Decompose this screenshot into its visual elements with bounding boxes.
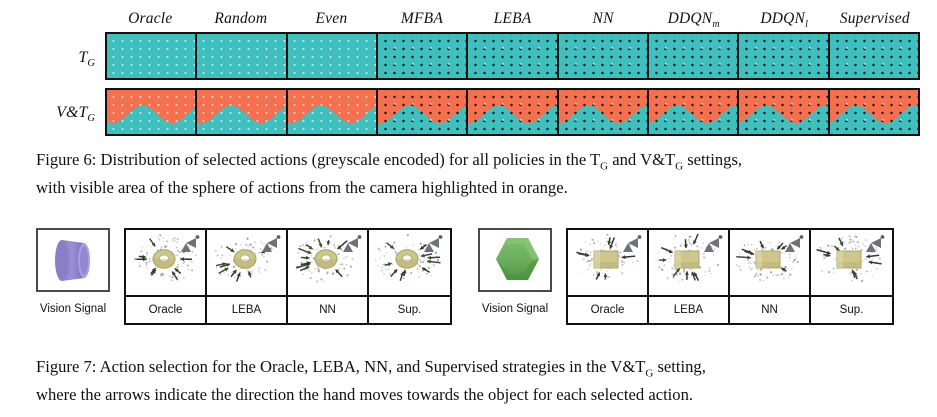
action-distribution-cell: [468, 90, 558, 134]
action-distribution-cell: [559, 34, 649, 78]
action-dot-pattern: [649, 34, 737, 78]
vision-signal-block: Vision Signal: [478, 228, 558, 315]
action-distribution-cell: [739, 34, 829, 78]
action-panel-label: NN: [730, 295, 811, 323]
action-dot-pattern-highlight: [830, 34, 918, 78]
action-distribution-cell: [468, 34, 558, 78]
action-dot-pattern-highlight: [378, 34, 466, 78]
column-header-supervised: Supervised: [830, 8, 921, 30]
row-label-tg: TG: [79, 49, 96, 69]
column-header-mfba: MFBA: [377, 8, 468, 30]
action-dot-pattern: [559, 34, 647, 78]
action-distribution-cell: [107, 34, 197, 78]
column-header-oracle: Oracle: [105, 8, 196, 30]
figure6-row-tg: [105, 32, 920, 80]
action-panel-leba: [207, 230, 288, 295]
action-dot-pattern: [378, 34, 466, 78]
visible-area-overlay: [107, 90, 197, 134]
action-panel-sup: [811, 230, 892, 295]
action-panel-label: Sup.: [369, 295, 450, 323]
action-distribution-cell: [378, 90, 468, 134]
figure-6: OracleRandomEvenMFBALEBANNDDQNmDDQNlSupe…: [0, 0, 937, 142]
action-distribution-cell: [830, 34, 918, 78]
action-panel-leba: [649, 230, 730, 295]
action-distribution-cell: [559, 90, 649, 134]
hexagonal-prism-icon: [478, 228, 552, 292]
visible-area-overlay: [559, 90, 649, 134]
vision-signal-label: Vision Signal: [472, 303, 558, 315]
cylinder-icon: [36, 228, 110, 292]
visible-area-overlay: [197, 90, 287, 134]
action-dot-pattern-highlight: [739, 34, 827, 78]
action-distribution-cell: [378, 34, 468, 78]
action-distribution-cell: [197, 34, 287, 78]
action-panel-nn: [288, 230, 369, 295]
action-panel-table: OracleLEBANNSup.: [124, 228, 452, 325]
action-panel-row: [568, 230, 892, 295]
vision-signal-label: Vision Signal: [30, 303, 116, 315]
column-header-random: Random: [196, 8, 287, 30]
action-panel-nn: [730, 230, 811, 295]
figure6-row-vtg: [105, 88, 920, 136]
column-header-leba: LEBA: [467, 8, 558, 30]
figure-7-caption: Figure 7: Action selection for the Oracl…: [36, 356, 920, 405]
action-panel-label: NN: [288, 295, 369, 323]
figure6-column-headers: OracleRandomEvenMFBALEBANNDDQNmDDQNlSupe…: [105, 8, 920, 30]
action-panel-oracle: [568, 230, 649, 295]
visible-area-overlay: [830, 90, 918, 134]
action-panel-table: OracleLEBANNSup.: [566, 228, 894, 325]
action-dot-pattern: [107, 34, 195, 78]
row-label-vtg: V&TG: [56, 104, 95, 124]
action-panel-oracle: [126, 230, 207, 295]
figure-6-caption: Figure 6: Distribution of selected actio…: [36, 149, 920, 198]
column-header-ddqn-m: DDQNm: [648, 8, 739, 30]
action-distribution-cell: [288, 90, 378, 134]
action-panel-label: Oracle: [568, 295, 649, 323]
column-header-nn: NN: [558, 8, 649, 30]
action-distribution-cell: [288, 34, 378, 78]
figure6-grid: [105, 32, 920, 138]
action-distribution-cell: [197, 90, 287, 134]
visible-area-overlay: [739, 90, 829, 134]
action-dot-pattern: [468, 34, 556, 78]
action-panel-label-row: OracleLEBANNSup.: [126, 295, 450, 323]
visible-area-overlay: [378, 90, 468, 134]
action-panel-label: Oracle: [126, 295, 207, 323]
action-dot-pattern-highlight: [559, 34, 647, 78]
column-header-even: Even: [286, 8, 377, 30]
action-panel-label: LEBA: [207, 295, 288, 323]
action-dot-pattern: [197, 34, 285, 78]
vision-signal-block: Vision Signal: [36, 228, 116, 315]
visible-area-overlay: [288, 90, 378, 134]
action-dot-pattern: [739, 34, 827, 78]
action-panel-label-row: OracleLEBANNSup.: [568, 295, 892, 323]
visible-area-overlay: [468, 90, 558, 134]
action-panel-row: [126, 230, 450, 295]
action-dot-pattern-highlight: [468, 34, 556, 78]
action-distribution-cell: [830, 90, 918, 134]
column-header-ddqn-l: DDQNl: [739, 8, 830, 30]
action-panel-label: Sup.: [811, 295, 892, 323]
action-dot-pattern: [288, 34, 376, 78]
action-distribution-cell: [649, 34, 739, 78]
action-panel-label: LEBA: [649, 295, 730, 323]
action-distribution-cell: [649, 90, 739, 134]
action-dot-pattern: [830, 34, 918, 78]
figure-7: Vision SignalOracleLEBANNSup. Vision Sig…: [0, 228, 937, 348]
action-distribution-cell: [107, 90, 197, 134]
visible-area-overlay: [649, 90, 739, 134]
action-panel-sup: [369, 230, 450, 295]
action-distribution-cell: [739, 90, 829, 134]
action-dot-pattern-highlight: [649, 34, 737, 78]
figure6-row-labels: TG V&TG: [0, 32, 103, 138]
